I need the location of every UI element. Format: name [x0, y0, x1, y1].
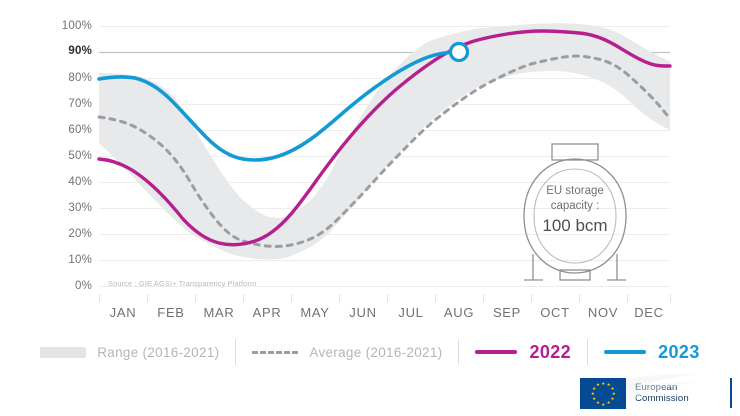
y-tick-90: 90%: [40, 46, 92, 57]
y-tick-10: 10%: [40, 255, 92, 266]
capacity-value: 100 bcm: [512, 215, 638, 237]
legend-item-average[interactable]: Average (2016-2021): [252, 345, 442, 360]
x-tick-dec: DEC: [627, 300, 671, 326]
source-note: Source : GIE AGSI+ Transparency Platform: [108, 279, 256, 288]
logo-accent-bar: [730, 378, 732, 408]
x-tick-feb: FEB: [147, 300, 195, 326]
legend-label-range: Range (2016-2021): [97, 345, 219, 360]
capacity-line-2: capacity :: [512, 199, 638, 214]
x-tick-oct: OCT: [531, 300, 579, 326]
legend-item-2023[interactable]: 2023: [604, 342, 700, 363]
x-tick-nov: NOV: [579, 300, 627, 326]
capacity-line-1: EU storage: [512, 184, 638, 199]
x-tick-apr: APR: [243, 300, 291, 326]
y-tick-20: 20%: [40, 229, 92, 240]
legend-divider-1: [235, 339, 236, 365]
x-tick-jun: JUN: [339, 300, 387, 326]
range-swatch-icon: [40, 347, 86, 358]
y-tick-30: 30%: [40, 203, 92, 214]
y-tick-60: 60%: [40, 125, 92, 136]
x-tick-aug: AUG: [435, 300, 483, 326]
line-swatch-2022-icon: [475, 350, 517, 354]
legend-divider-3: [587, 339, 588, 365]
legend-divider-2: [458, 339, 459, 365]
x-tick-mar: MAR: [195, 300, 243, 326]
y-tick-100: 100%: [40, 21, 92, 32]
x-tick-jul: JUL: [387, 300, 435, 326]
legend-label-2022: 2022: [529, 342, 571, 363]
y-tick-80: 80%: [40, 73, 92, 84]
legend-item-2022[interactable]: 2022: [475, 342, 571, 363]
x-tick-sep: SEP: [483, 300, 531, 326]
y-tick-50: 50%: [40, 151, 92, 162]
series-2023-endpoint-marker: [451, 44, 468, 61]
x-tick-jan: JAN: [99, 300, 147, 326]
dashed-line-swatch-icon: [252, 351, 298, 354]
eu-flag-icon: ★ ★ ★ ★ ★ ★ ★ ★ ★ ★ ★ ★: [580, 378, 626, 409]
storage-capacity-text: EU storage capacity : 100 bcm: [512, 184, 638, 237]
plot-area: 100% 90% 80% 70% 60% 50% 40% 30% 20% 10%…: [0, 0, 740, 330]
gas-storage-chart: 100% 90% 80% 70% 60% 50% 40% 30% 20% 10%…: [0, 0, 740, 416]
y-tick-70: 70%: [40, 99, 92, 110]
legend-label-2023: 2023: [658, 342, 700, 363]
legend-item-range[interactable]: Range (2016-2021): [40, 345, 219, 360]
y-tick-40: 40%: [40, 177, 92, 188]
x-tick-may: MAY: [291, 300, 339, 326]
line-swatch-2023-icon: [604, 350, 646, 354]
legend-label-average: Average (2016-2021): [309, 345, 442, 360]
storage-capacity-annotation: EU storage capacity : 100 bcm: [512, 142, 638, 282]
chart-legend: Range (2016-2021) Average (2016-2021) 20…: [0, 332, 740, 372]
y-tick-0: 0%: [40, 281, 92, 292]
european-commission-logo: ★ ★ ★ ★ ★ ★ ★ ★ ★ ★ ★ ★ European Commiss…: [580, 374, 732, 412]
